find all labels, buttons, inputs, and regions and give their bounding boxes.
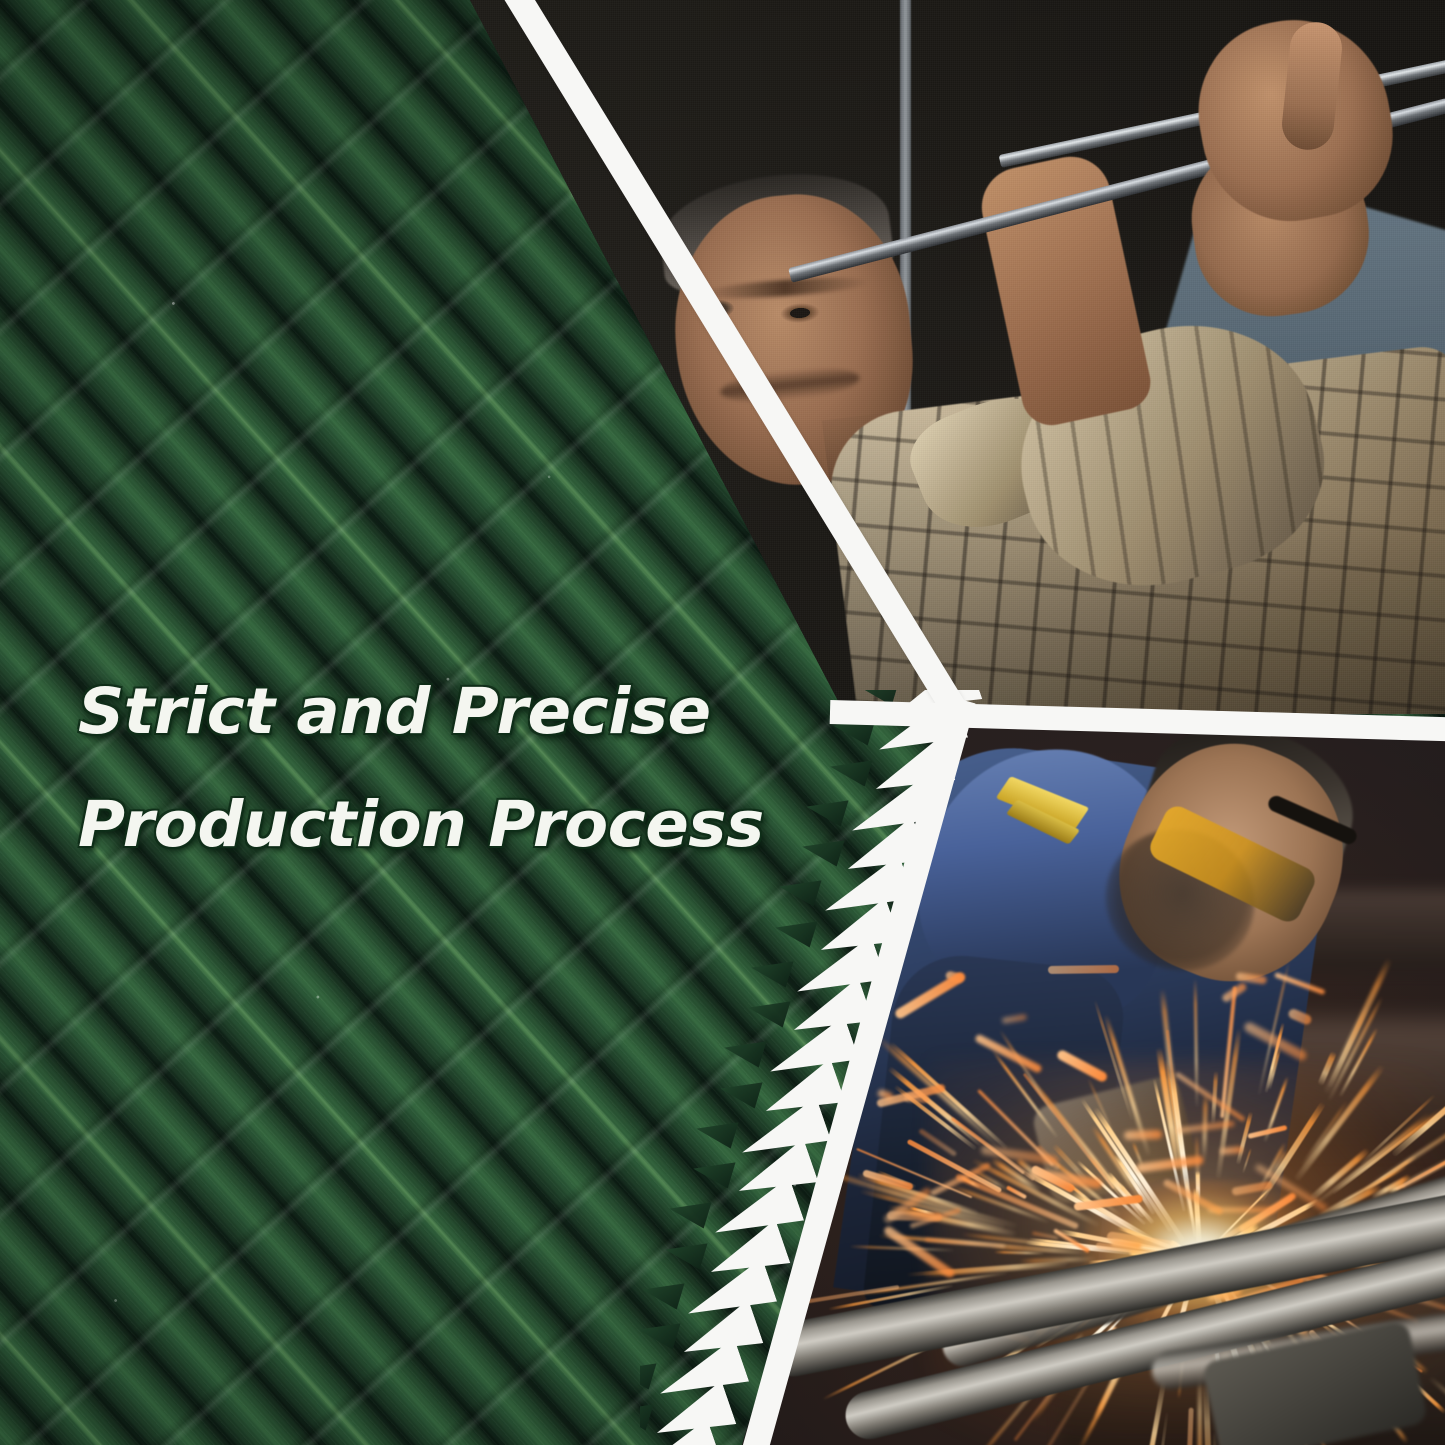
headline-block: Strict and Precise Production Process [78,655,838,881]
headline-line-1: Strict and Precise [78,655,853,768]
headline-line-2: Production Process [78,768,853,881]
product-banner: Strict and Precise Production Process [0,0,1445,1445]
